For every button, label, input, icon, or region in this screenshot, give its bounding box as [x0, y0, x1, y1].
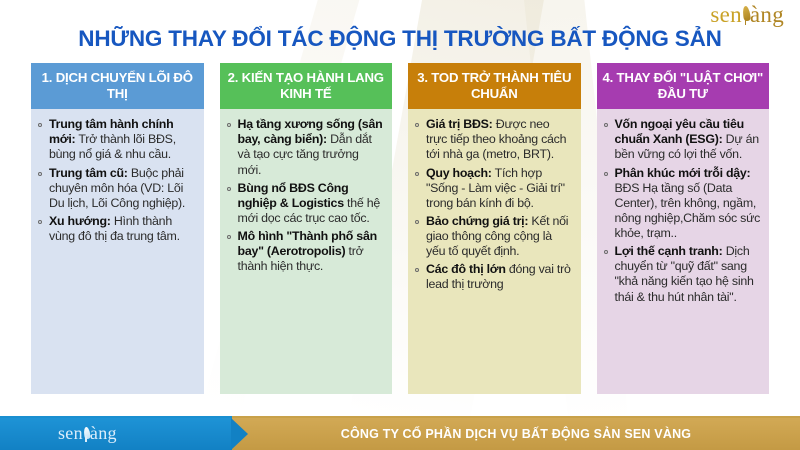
column-2-point-list: Hạ tầng xương sống (sân bay, càng biển):…	[226, 117, 386, 274]
column-3-body: Giá trị BĐS: Được neo trực tiếp theo kho…	[408, 109, 581, 394]
brand-logo: senàng	[710, 3, 786, 26]
list-item: Các đô thị lớn đóng vai trò lead thị trư…	[414, 262, 574, 292]
footer-logo-vang: àng	[90, 423, 117, 443]
list-item: Xu hướng: Hình thành vùng đô thị đa trun…	[37, 214, 197, 244]
column-3-point-list: Giá trị BĐS: Được neo trực tiếp theo kho…	[414, 117, 574, 292]
brand-logo-wordmark: senàng	[710, 3, 786, 26]
column-1-point-list: Trung tâm hành chính mới: Trở thành lõi …	[37, 117, 197, 244]
column-2-body: Hạ tầng xương sống (sân bay, càng biển):…	[220, 109, 393, 394]
list-item: Quy hoạch: Tích hợp "Sống - Làm việc - G…	[414, 166, 574, 211]
list-item: Hạ tầng xương sống (sân bay, càng biển):…	[226, 117, 386, 178]
point-text: BĐS Hạ tầng số (Data Center), trên không…	[615, 181, 761, 240]
lotus-leaf-icon	[82, 427, 91, 442]
point-label: Giá trị BĐS:	[426, 117, 493, 131]
brand-logo-vang: àng	[750, 2, 784, 27]
list-item: Trung tâm hành chính mới: Trở thành lõi …	[37, 117, 197, 162]
column-1-body: Trung tâm hành chính mới: Trở thành lõi …	[31, 109, 204, 394]
list-item: Trung tâm cũ: Buộc phải chuyên môn hóa (…	[37, 166, 197, 211]
page-title: NHỮNG THAY ĐỔI TÁC ĐỘNG THỊ TRƯỜNG BẤT Đ…	[0, 26, 800, 52]
list-item: Giá trị BĐS: Được neo trực tiếp theo kho…	[414, 117, 574, 162]
footer-brand-logo: senàng	[58, 424, 119, 443]
column-3-heading: 3. TOD TRỞ THÀNH TIÊU CHUẨN	[408, 63, 581, 109]
point-label: Các đô thị lớn	[426, 262, 506, 276]
column-2: 2. KIẾN TẠO HÀNH LANG KINH TẾ Hạ tầng xư…	[220, 63, 393, 394]
column-4-heading: 4. THAY ĐỔI "LUẬT CHƠI" ĐẦU TƯ	[597, 63, 770, 109]
footer-company-name: CÔNG TY CỔ PHẦN DỊCH VỤ BẤT ĐỘNG SẢN SEN…	[232, 418, 800, 450]
list-item: Mô hình "Thành phố sân bay" (Aerotropoli…	[226, 229, 386, 274]
column-4: 4. THAY ĐỔI "LUẬT CHƠI" ĐẦU TƯ Vốn ngoại…	[597, 63, 770, 394]
footer-logo-sen: sen	[58, 423, 83, 443]
lotus-leaf-icon	[741, 6, 751, 25]
column-1-heading: 1. DỊCH CHUYỂN LÕI ĐÔ THỊ	[31, 63, 204, 109]
column-1: 1. DỊCH CHUYỂN LÕI ĐÔ THỊ Trung tâm hành…	[31, 63, 204, 394]
footer-logo-wordmark: senàng	[58, 424, 119, 442]
point-label: Bảo chứng giá trị:	[426, 214, 528, 228]
point-label: Quy hoạch:	[426, 166, 492, 180]
point-label: Xu hướng:	[49, 214, 111, 228]
list-item: Phân khúc mới trỗi dậy: BĐS Hạ tầng số (…	[603, 166, 763, 242]
list-item: Bùng nổ BĐS Công nghiệp & Logistics thế …	[226, 181, 386, 226]
point-label: Phân khúc mới trỗi dậy:	[615, 166, 751, 180]
point-label: Lợi thế cạnh tranh:	[615, 244, 723, 258]
point-label: Bùng nổ BĐS Công nghiệp & Logistics	[238, 181, 349, 210]
brand-logo-sen: sen	[710, 2, 742, 27]
point-label: Trung tâm cũ:	[49, 166, 128, 180]
column-4-body: Vốn ngoại yêu cầu tiêu chuẩn Xanh (ESG):…	[597, 109, 770, 394]
list-item: Vốn ngoại yêu cầu tiêu chuẩn Xanh (ESG):…	[603, 117, 763, 162]
column-3: 3. TOD TRỞ THÀNH TIÊU CHUẨN Giá trị BĐS:…	[408, 63, 581, 394]
list-item: Bảo chứng giá trị: Kết nối giao thông cô…	[414, 214, 574, 259]
footer-bar: senàng CÔNG TY CỔ PHẦN DỊCH VỤ BẤT ĐỘNG …	[0, 416, 800, 450]
columns-container: 1. DỊCH CHUYỂN LÕI ĐÔ THỊ Trung tâm hành…	[31, 63, 769, 394]
column-2-heading: 2. KIẾN TẠO HÀNH LANG KINH TẾ	[220, 63, 393, 109]
column-4-point-list: Vốn ngoại yêu cầu tiêu chuẩn Xanh (ESG):…	[603, 117, 763, 305]
list-item: Lợi thế cạnh tranh: Dịch chuyển từ "quỹ …	[603, 244, 763, 305]
